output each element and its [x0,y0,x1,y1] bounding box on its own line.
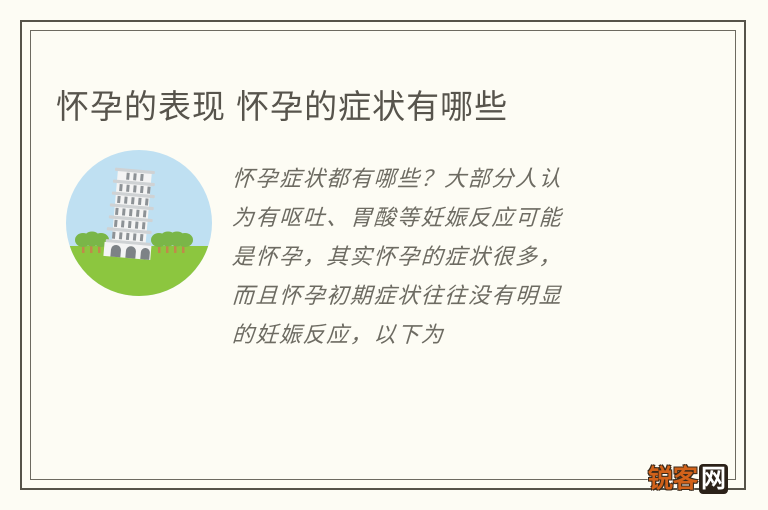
site-watermark: 锐客 网 [648,464,728,494]
watermark-text-primary: 锐客 [648,464,698,494]
article-illustration [66,150,212,296]
page-title: 怀孕的表现 怀孕的症状有哪些 [56,85,696,129]
body-line: 是怀孕，其实怀孕的症状很多， [231,238,651,277]
watermark-text-boxed: 网 [699,464,728,494]
body-line: 而且怀孕初期症状往往没有明显 [231,277,651,316]
article-card: 怀孕的表现 怀孕的症状有哪些 [0,0,768,510]
body-line: 为有呕吐、胃酸等妊娠反应可能 [231,199,651,238]
article-body: 怀孕症状都有哪些？大部分人认 为有呕吐、胃酸等妊娠反应可能 是怀孕，其实怀孕的症… [232,160,650,355]
body-line: 的妊娠反应，以下为 [231,316,651,355]
body-line: 怀孕症状都有哪些？大部分人认 [231,160,651,199]
